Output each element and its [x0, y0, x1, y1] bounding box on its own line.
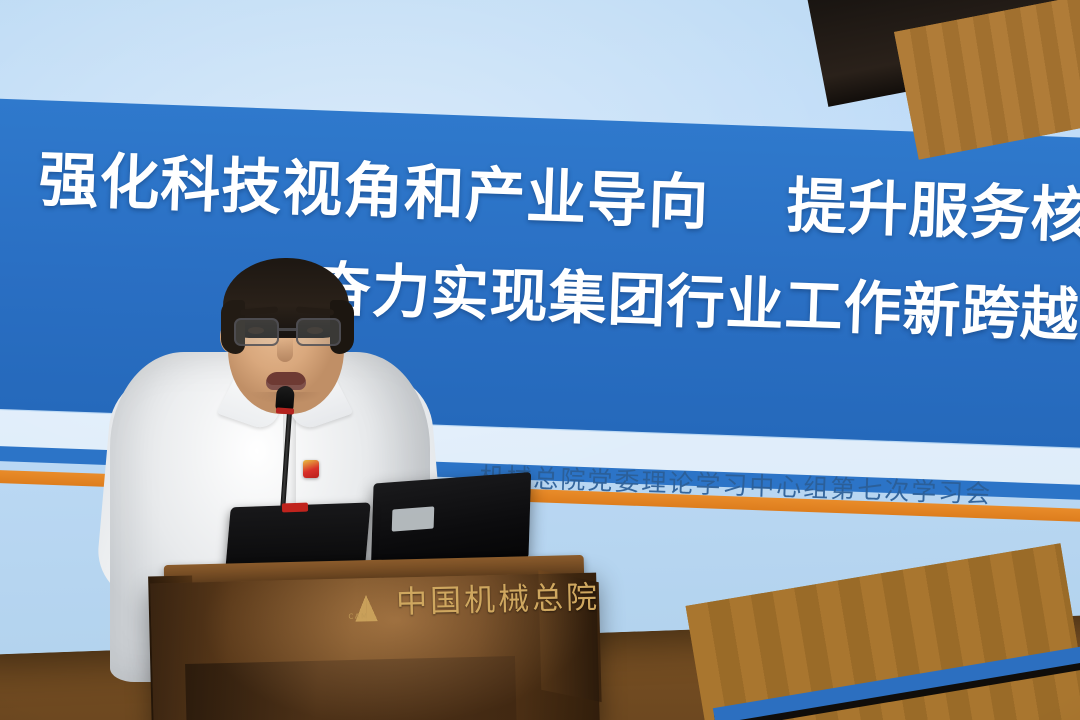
- control-panel-red-led: [282, 503, 308, 513]
- nose: [277, 336, 293, 362]
- mountain-triangle-logo-icon: CAM: [325, 574, 382, 625]
- podium-plaque-subtext: CAM: [348, 612, 368, 620]
- presentation-photo-scene: CAM 中国机械科学研究总院集团 China Academy of Machin…: [0, 0, 1080, 720]
- lens-left: [234, 318, 279, 346]
- podium-control-panel[interactable]: [225, 502, 370, 569]
- podium-plaque-text: 中国机械总院: [395, 571, 600, 621]
- foreground-shadow: [0, 660, 210, 720]
- glasses-bridge: [279, 328, 296, 331]
- podium-plaque: CAM 中国机械总院: [325, 569, 600, 626]
- lens-right: [296, 318, 341, 346]
- podium-lower-column: [185, 656, 517, 720]
- microphone-red-indicator: [276, 407, 294, 414]
- party-emblem-lapel-pin-icon: [303, 460, 319, 478]
- laptop-asset-label: [392, 506, 435, 531]
